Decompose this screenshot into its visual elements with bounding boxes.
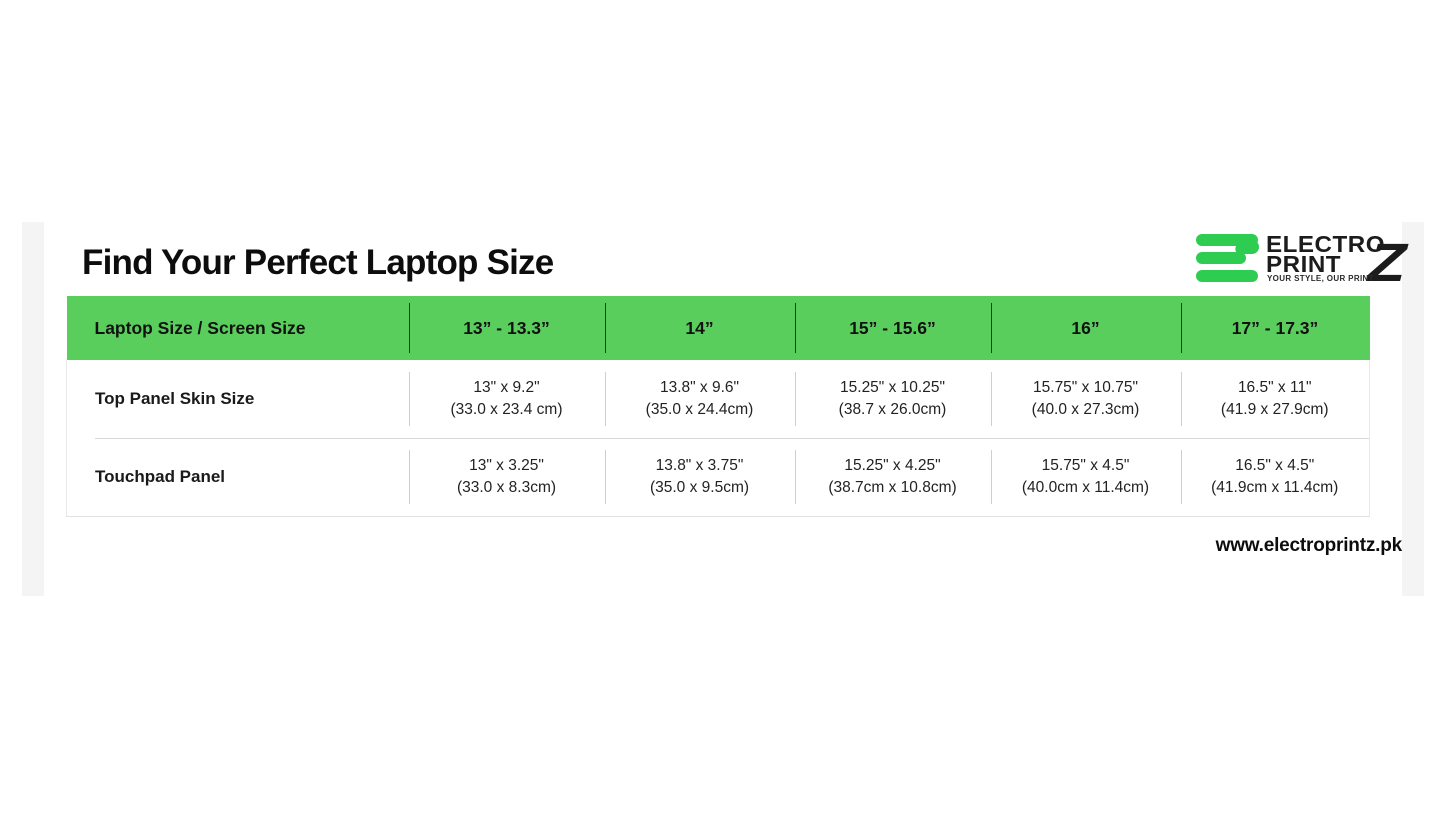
- cell-metric: (40.0cm x 11.4cm): [991, 477, 1181, 499]
- cell-metric: (41.9cm x 11.4cm): [1181, 477, 1370, 499]
- cell-inches: 15.75" x 4.5": [991, 455, 1181, 477]
- cell-metric: (41.9 x 27.9cm): [1181, 399, 1370, 421]
- masthead: Find Your Perfect Laptop Size ELECTRO PR…: [66, 222, 1402, 296]
- page-title: Find Your Perfect Laptop Size: [82, 243, 553, 283]
- cell-metric: (33.0 x 23.4 cm): [409, 399, 605, 421]
- sheet-content: Find Your Perfect Laptop Size ELECTRO PR…: [66, 222, 1402, 596]
- column-header-16: 16”: [991, 296, 1181, 360]
- cell-metric: (38.7cm x 10.8cm): [795, 477, 991, 499]
- cell-touchpad-14: 13.8" x 3.75" (35.0 x 9.5cm): [605, 438, 795, 517]
- row-label-touchpad-panel: Touchpad Panel: [67, 438, 409, 517]
- table-row: Top Panel Skin Size 13" x 9.2" (33.0 x 2…: [67, 360, 1370, 438]
- cell-top-panel-15: 15.25" x 10.25" (38.7 x 26.0cm): [795, 360, 991, 438]
- cell-top-panel-17: 16.5" x 11" (41.9 x 27.9cm): [1181, 360, 1370, 438]
- logo-tagline: YOUR STYLE, OUR PRINT: [1267, 274, 1374, 283]
- cell-top-panel-13: 13" x 9.2" (33.0 x 23.4 cm): [409, 360, 605, 438]
- column-header-17: 17” - 17.3”: [1181, 296, 1370, 360]
- cell-inches: 15.75" x 10.75": [991, 377, 1181, 399]
- cell-inches: 15.25" x 4.25": [795, 455, 991, 477]
- cell-metric: (40.0 x 27.3cm): [991, 399, 1181, 421]
- cell-touchpad-13: 13" x 3.25" (33.0 x 8.3cm): [409, 438, 605, 517]
- cell-inches: 13.8" x 3.75": [605, 455, 795, 477]
- cell-metric: (33.0 x 8.3cm): [409, 477, 605, 499]
- footer-website-url[interactable]: www.electroprintz.pk: [1216, 535, 1402, 557]
- laptop-size-table: Laptop Size / Screen Size 13” - 13.3” 14…: [66, 296, 1370, 517]
- column-header-13: 13” - 13.3”: [409, 296, 605, 360]
- cell-touchpad-17: 16.5" x 4.5" (41.9cm x 11.4cm): [1181, 438, 1370, 517]
- table-header: Laptop Size / Screen Size 13” - 13.3” 14…: [67, 296, 1370, 360]
- cell-inches: 16.5" x 4.5": [1181, 455, 1370, 477]
- page-edge-left: [22, 222, 44, 596]
- column-header-14: 14”: [605, 296, 795, 360]
- row-label-top-panel-skin-size: Top Panel Skin Size: [67, 360, 409, 438]
- cell-top-panel-16: 15.75" x 10.75" (40.0 x 27.3cm): [991, 360, 1181, 438]
- cell-top-panel-14: 13.8" x 9.6" (35.0 x 24.4cm): [605, 360, 795, 438]
- cell-metric: (38.7 x 26.0cm): [795, 399, 991, 421]
- cell-inches: 13.8" x 9.6": [605, 377, 795, 399]
- electroprintz-e-mark-icon: [1194, 232, 1260, 284]
- brand-logo[interactable]: ELECTRO PRINT Z YOUR STYLE, OUR PRINT: [1194, 227, 1402, 289]
- cell-inches: 16.5" x 11": [1181, 377, 1370, 399]
- table-row: Touchpad Panel 13" x 3.25" (33.0 x 8.3cm…: [67, 438, 1370, 517]
- infographic-sheet: Find Your Perfect Laptop Size ELECTRO PR…: [22, 222, 1402, 596]
- column-header-laptop-size: Laptop Size / Screen Size: [67, 296, 409, 360]
- cell-touchpad-16: 15.75" x 4.5" (40.0cm x 11.4cm): [991, 438, 1181, 517]
- cell-inches: 13" x 3.25": [409, 455, 605, 477]
- table-header-row: Laptop Size / Screen Size 13” - 13.3” 14…: [67, 296, 1370, 360]
- table-body: Top Panel Skin Size 13" x 9.2" (33.0 x 2…: [67, 360, 1370, 517]
- cell-metric: (35.0 x 9.5cm): [605, 477, 795, 499]
- cell-inches: 13" x 9.2": [409, 377, 605, 399]
- column-header-15: 15” - 15.6”: [795, 296, 991, 360]
- cell-touchpad-15: 15.25" x 4.25" (38.7cm x 10.8cm): [795, 438, 991, 517]
- cell-metric: (35.0 x 24.4cm): [605, 399, 795, 421]
- logo-wordmark: ELECTRO PRINT Z YOUR STYLE, OUR PRINT: [1266, 227, 1402, 289]
- cell-inches: 15.25" x 10.25": [795, 377, 991, 399]
